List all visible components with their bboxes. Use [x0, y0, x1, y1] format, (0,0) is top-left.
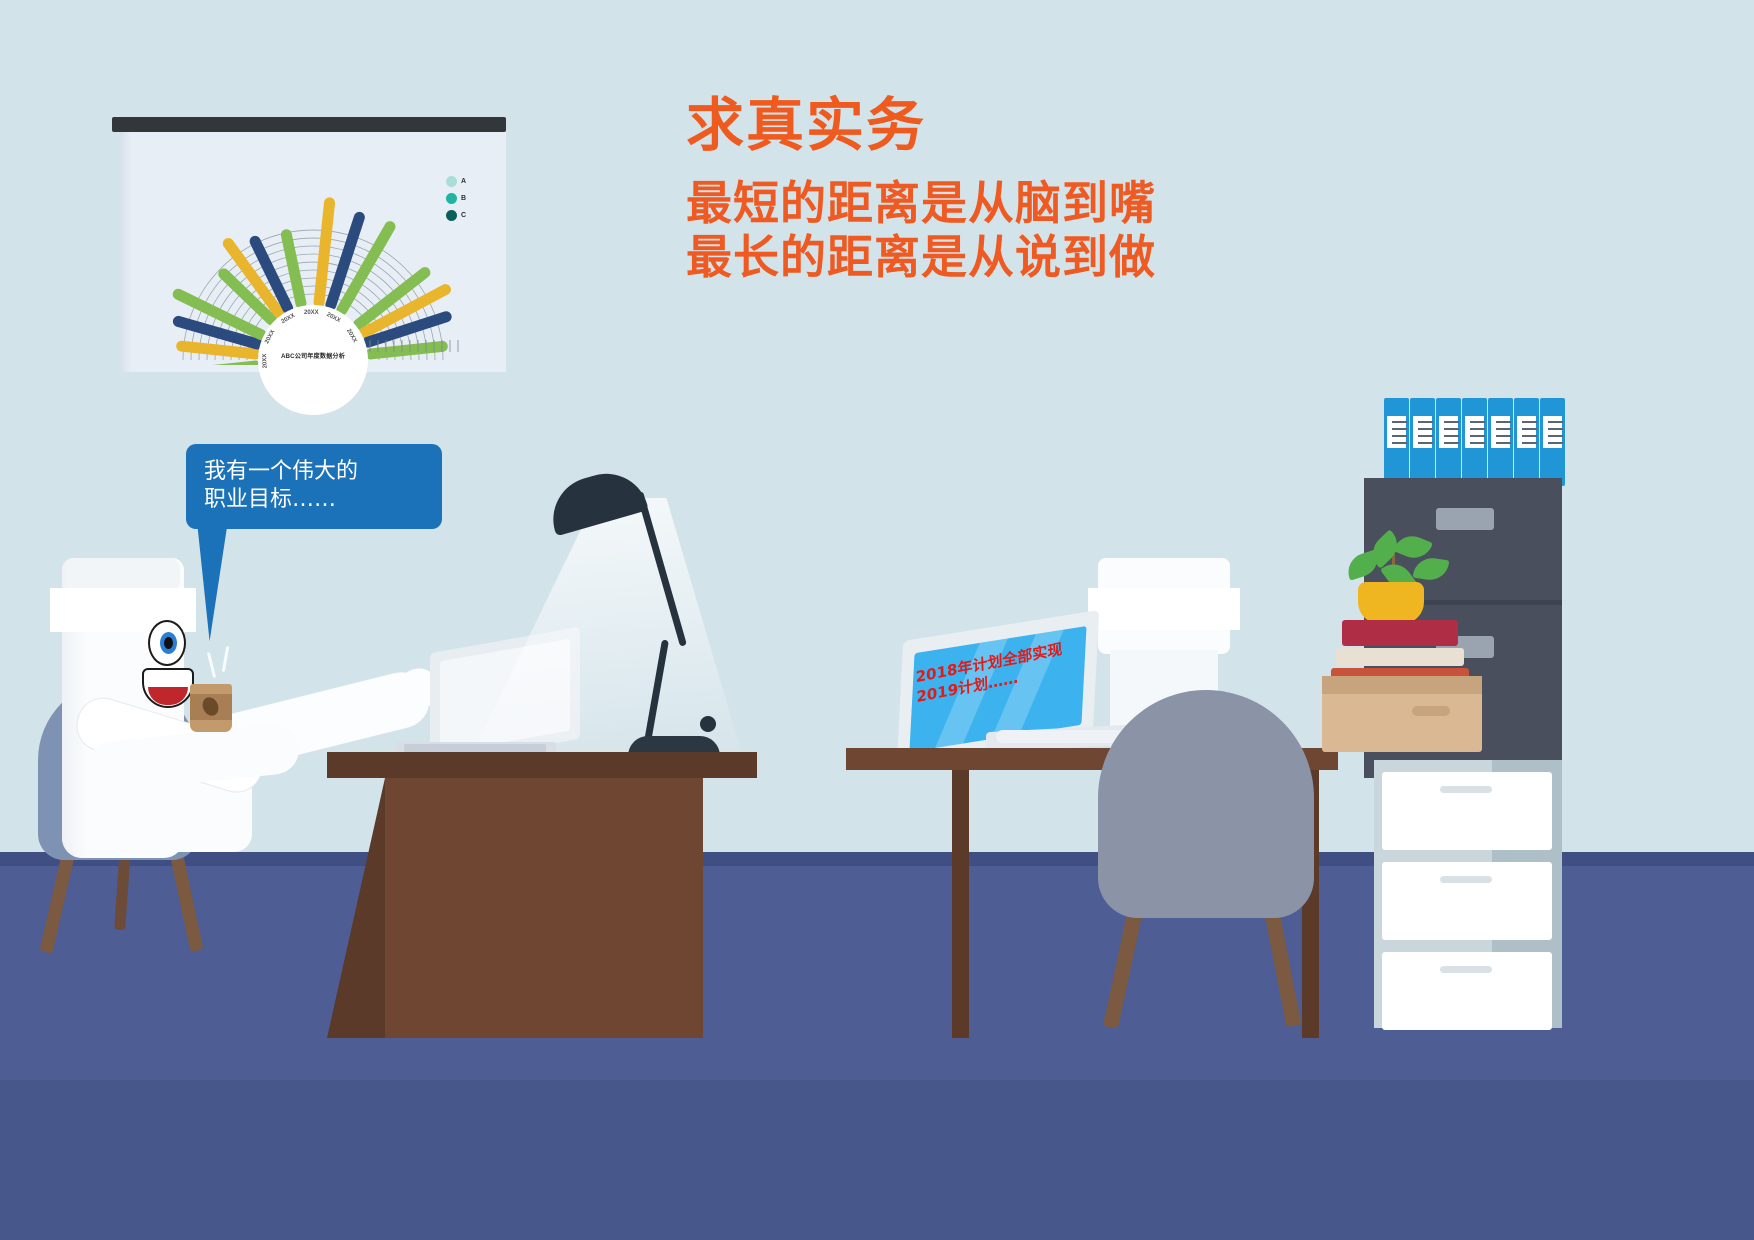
chart-year-label: 20XX: [280, 313, 296, 326]
legend-item-b: B: [446, 193, 488, 204]
chart-ticks: [368, 338, 488, 364]
binder-label-line: [1548, 428, 1563, 430]
mug-tongue: [148, 687, 188, 705]
binder[interactable]: [1462, 398, 1487, 486]
binder-label-line: [1418, 428, 1433, 430]
binder-label-line: [1470, 421, 1485, 423]
box-handle: [1412, 706, 1450, 716]
speech-line-2: 职业目标……: [204, 486, 426, 514]
legend-swatch-c: [446, 210, 457, 221]
chart-petal: [286, 235, 301, 303]
chart-year-label: 20XX: [265, 329, 277, 345]
binder-label-line: [1444, 421, 1459, 423]
headline-line-2: 最长的距离是从说到做: [686, 230, 1156, 284]
plant-leaf: [1413, 556, 1450, 583]
cabinet-drawer[interactable]: [1382, 772, 1552, 850]
lamp-joint: [700, 716, 716, 732]
speech-bubble: 我有一个伟大的 职业目标……: [186, 444, 442, 529]
desk-left-top: [327, 752, 757, 778]
binder-label-line: [1444, 442, 1459, 444]
projector-screen-bar: [112, 117, 506, 132]
headline-block: 求真实务 最短的距离是从脑到嘴 最长的距离是从说到做: [686, 96, 1156, 285]
legend-swatch-a: [446, 176, 457, 187]
binder-label-line: [1548, 435, 1563, 437]
legend-label-b: B: [461, 195, 466, 202]
binder-label: [1387, 416, 1406, 448]
chair-right: [1098, 690, 1314, 918]
illustration-canvas: ABC公司年度数据分析 20XX20XX20XX20XX20XX20XX: [0, 0, 1754, 1240]
book: [1342, 620, 1458, 646]
binder-label-line: [1392, 421, 1407, 423]
binder-label-line: [1470, 428, 1485, 430]
binder-label: [1543, 416, 1562, 448]
projector-screen: ABC公司年度数据分析 20XX20XX20XX20XX20XX20XX: [120, 132, 506, 372]
desk-right-leg: [952, 770, 969, 1038]
binder-label: [1491, 416, 1510, 448]
chart-legend: A B C: [446, 176, 488, 227]
binder[interactable]: [1514, 398, 1539, 486]
cabinet-drawer[interactable]: [1382, 862, 1552, 940]
desk-left-front: [385, 778, 703, 1038]
chart-petal: [182, 346, 256, 354]
book: [1336, 648, 1464, 666]
binder-label-line: [1496, 421, 1511, 423]
chart-year-labels: 20XX20XX20XX20XX20XX20XX: [258, 305, 368, 415]
speech-line-1: 我有一个伟大的: [204, 458, 426, 486]
binder-label: [1465, 416, 1484, 448]
binder-label-line: [1392, 442, 1407, 444]
cabinet-handle: [1436, 508, 1494, 530]
binder-label-line: [1522, 428, 1537, 430]
binder-label-line: [1444, 428, 1459, 430]
binder[interactable]: [1410, 398, 1435, 486]
binder-label-line: [1392, 435, 1407, 437]
drawer-handle[interactable]: [1440, 966, 1492, 973]
binder[interactable]: [1436, 398, 1461, 486]
drawer-handle[interactable]: [1440, 786, 1492, 793]
binder-label-line: [1418, 421, 1433, 423]
chart-year-label: 20XX: [304, 310, 319, 316]
chart-petal: [319, 203, 329, 302]
legend-swatch-b: [446, 193, 457, 204]
binder-label: [1439, 416, 1458, 448]
legend-item-a: A: [446, 176, 488, 187]
binder-label-line: [1470, 435, 1485, 437]
binder-label-line: [1522, 421, 1537, 423]
mug-right-band: [1088, 588, 1240, 630]
binder-label-line: [1496, 442, 1511, 444]
chart-year-label: 20XX: [262, 353, 269, 368]
binder-label-line: [1444, 435, 1459, 437]
binder-label-line: [1418, 435, 1433, 437]
binder-label-line: [1522, 435, 1537, 437]
binder-label-line: [1548, 442, 1563, 444]
legend-item-c: C: [446, 210, 488, 221]
binder-label-line: [1418, 442, 1433, 444]
annual-data-chart: ABC公司年度数据分析 20XX20XX20XX20XX20XX20XX: [130, 150, 490, 365]
headline-line-1: 最短的距离是从脑到嘴: [686, 176, 1156, 230]
legend-label-c: C: [461, 212, 466, 219]
floor-shade: [0, 1080, 1754, 1240]
binder-label-line: [1522, 442, 1537, 444]
binder-label: [1413, 416, 1432, 448]
cardboard-box-lid: [1322, 676, 1482, 694]
binder-label-line: [1470, 442, 1485, 444]
binder[interactable]: [1384, 398, 1409, 486]
binder-label-line: [1392, 428, 1407, 430]
legend-label-a: A: [461, 178, 466, 185]
chart-year-label: 20XX: [345, 328, 358, 344]
binder[interactable]: [1540, 398, 1565, 486]
binder-label: [1517, 416, 1536, 448]
chart-year-label: 20XX: [325, 312, 341, 324]
binder-label-line: [1496, 435, 1511, 437]
binder[interactable]: [1488, 398, 1513, 486]
headline-title: 求真实务: [686, 96, 1156, 154]
mug-lid: [68, 558, 180, 592]
binder-label-line: [1548, 421, 1563, 423]
mug-eye-highlight: [164, 637, 173, 649]
drawer-handle[interactable]: [1440, 876, 1492, 883]
cabinet-drawer[interactable]: [1382, 952, 1552, 1030]
binder-label-line: [1496, 428, 1511, 430]
plant-pot: [1358, 582, 1424, 624]
